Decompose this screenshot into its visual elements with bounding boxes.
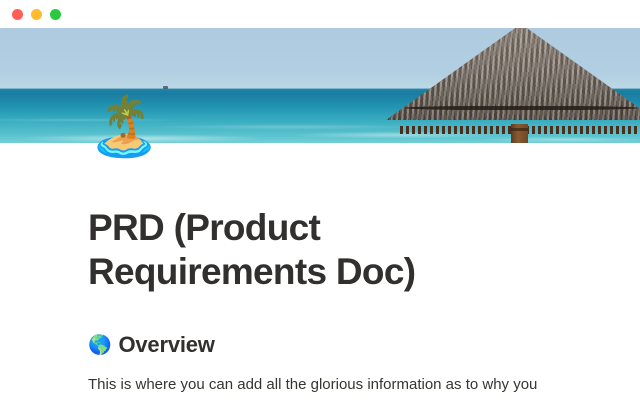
title-bar xyxy=(0,0,640,28)
palapa-umbrella-icon xyxy=(386,28,640,143)
minimize-button[interactable] xyxy=(31,9,42,20)
page-title[interactable]: PRD (Product Requirements Doc) xyxy=(88,206,552,293)
maximize-button[interactable] xyxy=(50,9,61,20)
distant-boat xyxy=(163,86,168,89)
traffic-lights xyxy=(12,9,61,20)
palapa-post xyxy=(511,124,528,143)
desert-island-icon[interactable]: 🏝️ xyxy=(88,98,160,156)
section-heading-overview[interactable]: 🌎 Overview xyxy=(88,331,552,360)
document-body: PRD (Product Requirements Doc) 🌎 Overvie… xyxy=(0,143,640,400)
palapa-post-band xyxy=(511,128,528,131)
overview-paragraph[interactable]: This is where you can add all the glorio… xyxy=(88,373,548,400)
document-window: 🏝️ PRD (Product Requirements Doc) 🌎 Over… xyxy=(0,0,640,400)
globe-icon: 🌎 xyxy=(88,336,111,355)
palapa-band xyxy=(404,106,638,110)
close-button[interactable] xyxy=(12,9,23,20)
section-heading-label: Overview xyxy=(118,331,214,360)
